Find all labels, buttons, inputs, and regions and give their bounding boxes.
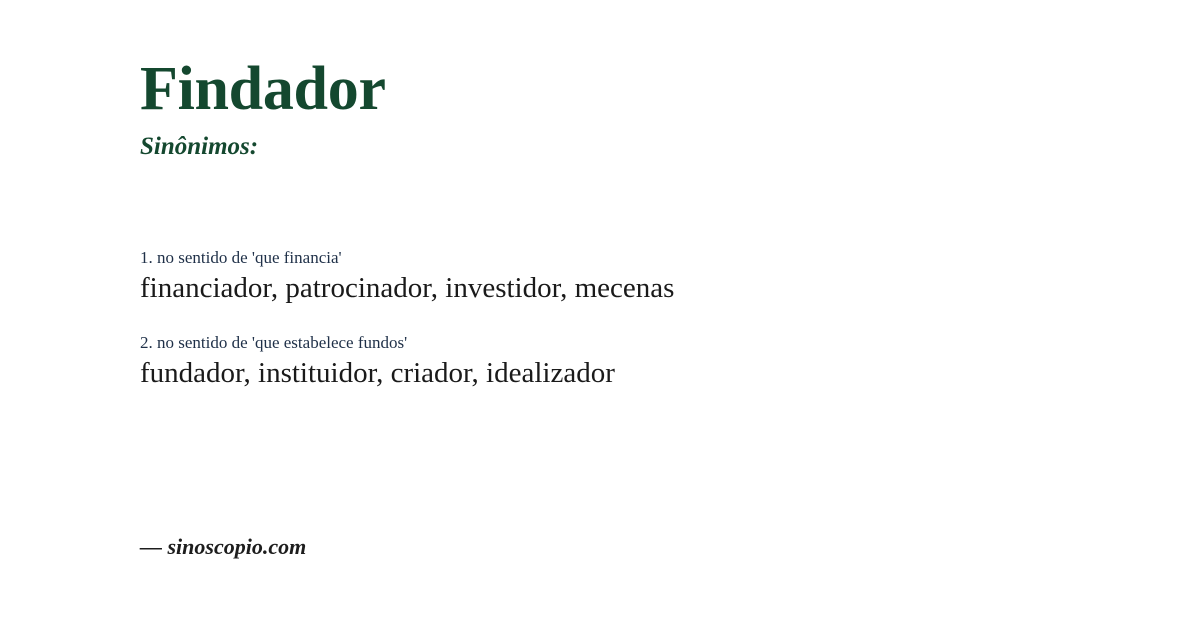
sense-synonyms: financiador, patrocinador, investidor, m… xyxy=(140,270,1160,306)
sense-label: 2. no sentido de 'que estabelece fundos' xyxy=(140,333,1160,353)
sense-synonyms: fundador, instituidor, criador, idealiza… xyxy=(140,355,1160,391)
synonyms-subtitle: Sinônimos: xyxy=(140,134,386,159)
source-attribution: — sinoscopio.com xyxy=(140,534,306,560)
sense-block: 1. no sentido de 'que financia' financia… xyxy=(140,248,1160,307)
sense-label: 1. no sentido de 'que financia' xyxy=(140,248,1160,268)
card-header: Findador Sinônimos: xyxy=(140,58,386,159)
sense-block: 2. no sentido de 'que estabelece fundos'… xyxy=(140,333,1160,392)
page-title: Findador xyxy=(140,58,386,120)
sense-list: 1. no sentido de 'que financia' financia… xyxy=(140,248,1160,391)
synonym-card: Findador Sinônimos: 1. no sentido de 'qu… xyxy=(0,0,1200,628)
